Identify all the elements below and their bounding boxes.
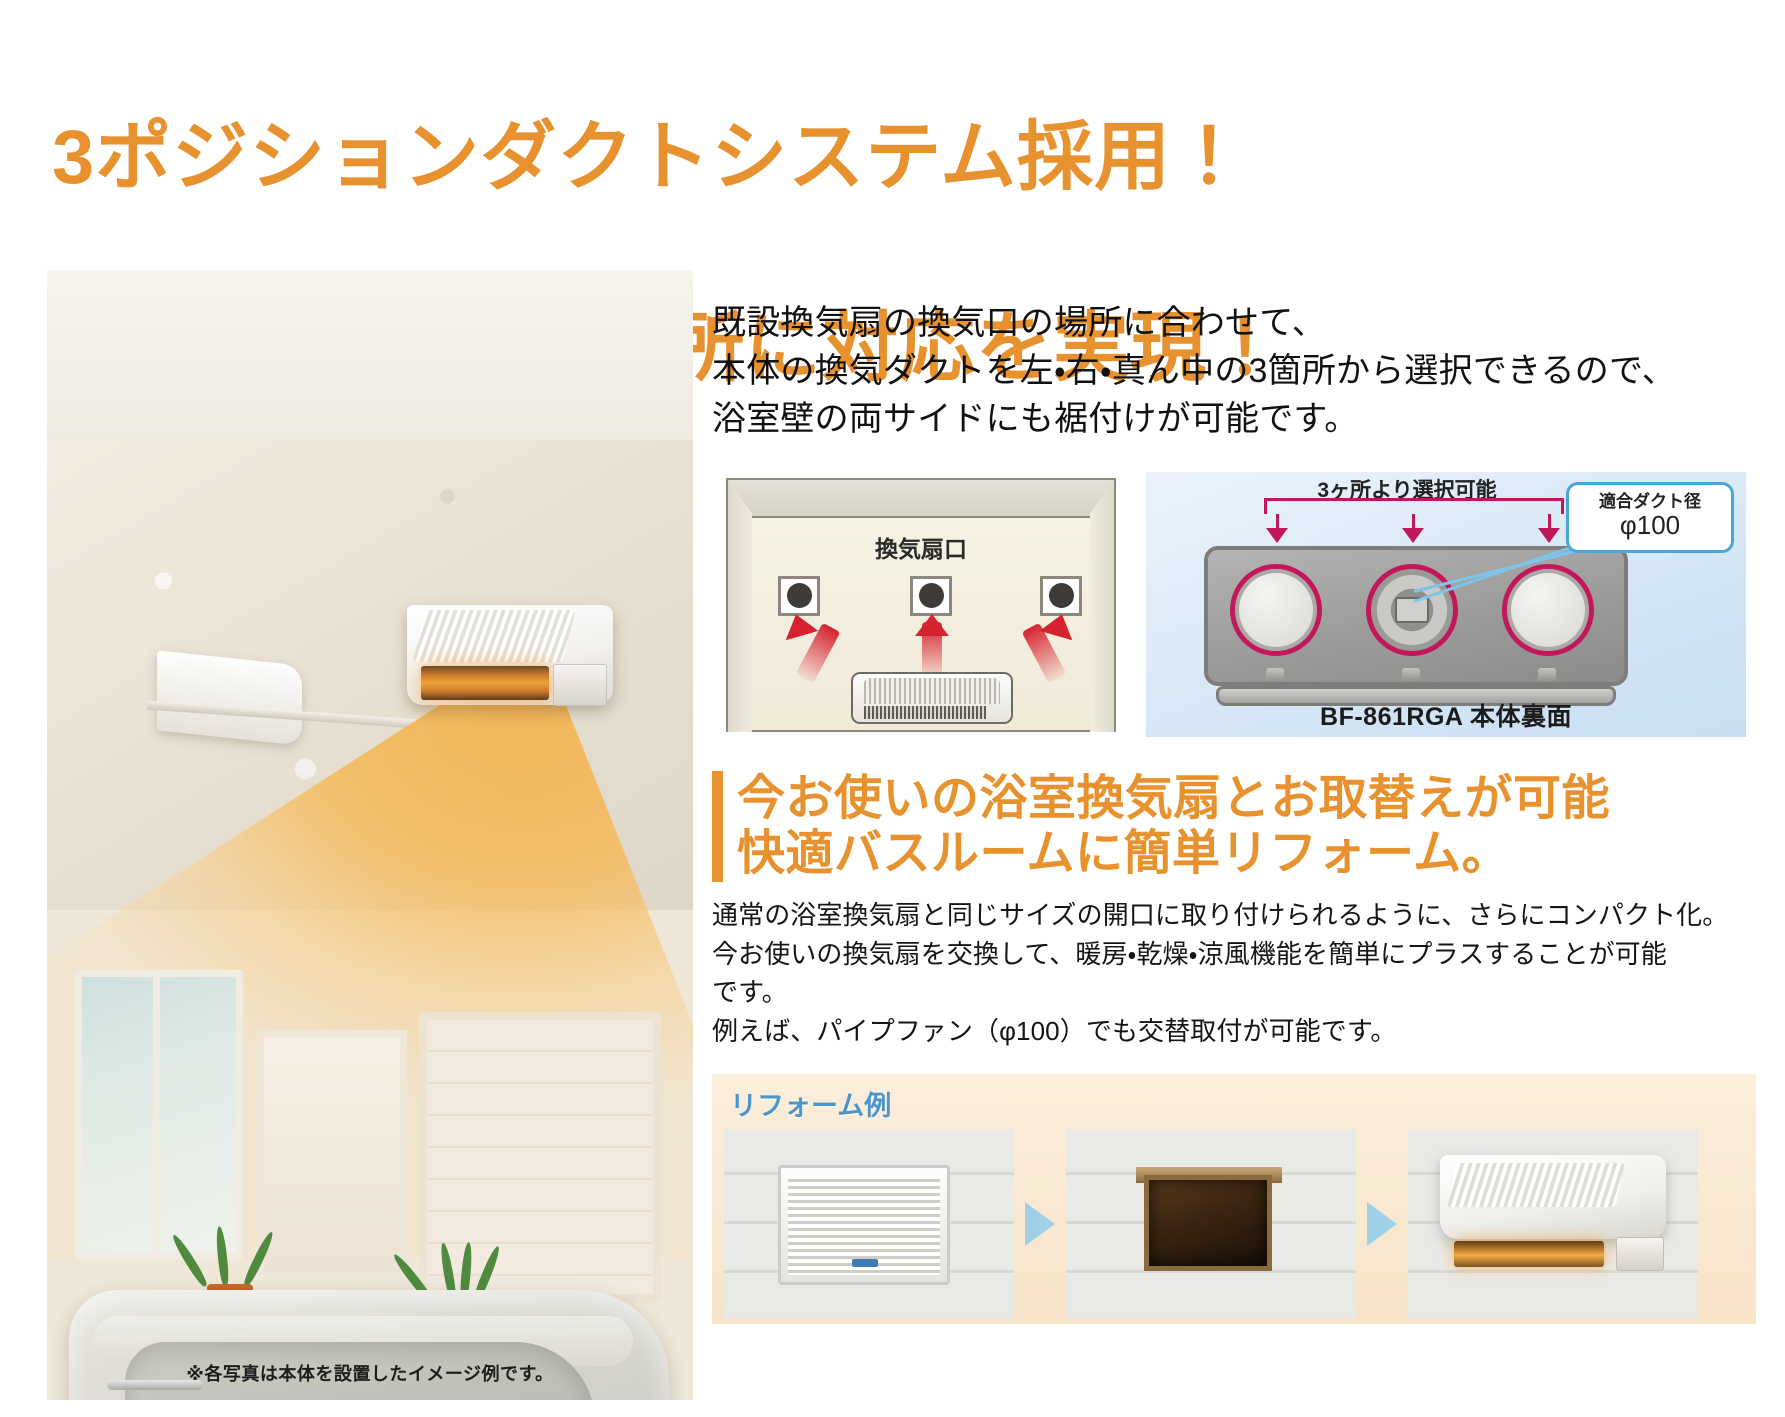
callout-title: 適合ダクト径	[1573, 492, 1727, 512]
window-mullion	[153, 970, 160, 1260]
heater-unit-grille	[413, 610, 576, 662]
reform-step-row	[724, 1129, 1744, 1319]
reform-arrow-2	[1356, 1202, 1408, 1246]
bracket-arrow-center-icon	[1402, 528, 1424, 543]
vent-opening-center	[910, 576, 952, 616]
room-left-wall	[726, 478, 752, 732]
bathroom-hero-photo: ※各写真は本体を設置したイメージ例です。	[47, 270, 693, 1400]
unit-screw-center	[1402, 668, 1420, 682]
callout-value: φ100	[1573, 511, 1727, 541]
bracket-arrow-left-icon	[1266, 528, 1288, 543]
wall-panel-left	[257, 1030, 407, 1280]
right-content-column: 既設換気扇の換気口の場所に合わせて、 本体の換気ダクトを左・右・真ん中の3箇所か…	[712, 300, 1752, 1324]
wall-opening-hole	[1144, 1175, 1272, 1271]
diagram-row: 換気扇口 3ヶ所より選択可能	[712, 472, 1752, 737]
duct-diameter-callout: 適合ダクト径 φ100	[1566, 482, 1734, 553]
new-unit-side-panel	[1616, 1237, 1664, 1271]
diagram-unit-vent-slots	[864, 706, 986, 719]
new-unit-grille	[1447, 1163, 1624, 1207]
heater-unit-side-panel	[553, 664, 607, 706]
room-right-wall	[1090, 478, 1116, 732]
duct-port-right	[1502, 564, 1594, 656]
reform-photo-wall-opening	[1066, 1129, 1356, 1319]
unit-rear-diagram: 3ヶ所より選択可能 適合ダクト径 φ100 BF-861RGA 本体裏面	[1146, 472, 1746, 737]
room-ceiling	[726, 478, 1116, 518]
room-vent-diagram: 換気扇口	[712, 472, 1130, 737]
section-heading-text: 今お使いの浴室換気扇とお取替えが可能 快適バスルームに簡単リフォーム。	[737, 771, 1610, 882]
diagram-unit-grille	[864, 678, 1000, 704]
chevron-right-icon	[1025, 1202, 1055, 1246]
reform-arrow-1	[1014, 1202, 1066, 1246]
headline-line-1: 3ポジションダクトシステム採用！	[52, 110, 1752, 206]
reform-photo-new-unit	[1408, 1129, 1698, 1319]
chevron-right-icon	[1367, 1202, 1397, 1246]
reform-photo-existing-fan	[724, 1129, 1014, 1319]
heater-unit-element	[421, 666, 549, 700]
unit-screw-left	[1266, 668, 1284, 682]
vent-opening-left	[778, 576, 820, 616]
hero-photo-caption: ※各写真は本体を設置したイメージ例です。	[47, 1360, 693, 1386]
bracket-arrow-right-icon	[1538, 528, 1560, 543]
duct-port-center	[1366, 564, 1458, 656]
reform-example-panel: リフォーム例	[712, 1074, 1756, 1324]
section-heading: 今お使いの浴室換気扇とお取替えが可能 快適バスルームに簡単リフォーム。	[712, 771, 1752, 882]
vent-opening-label: 換気扇口	[712, 530, 1130, 564]
airflow-arrow-center-head	[915, 614, 949, 636]
wall-vent-shape	[157, 650, 302, 745]
model-number-label: BF-861RGA 本体裏面	[1146, 697, 1746, 733]
unit-screw-right	[1538, 668, 1556, 682]
intro-paragraph: 既設換気扇の換気口の場所に合わせて、 本体の換気ダクトを左・右・真ん中の3箇所か…	[712, 300, 1752, 444]
reform-example-title: リフォーム例	[730, 1084, 1744, 1123]
new-unit-heater-element	[1454, 1241, 1604, 1267]
existing-fan-badge	[852, 1259, 878, 1267]
section-body-paragraph: 通常の浴室換気扇と同じサイズの開口に取り付けられるように、さらにコンパクト化。 …	[712, 896, 1752, 1050]
selection-bracket	[1264, 498, 1564, 514]
section-accent-bar	[712, 771, 723, 882]
duct-port-left	[1230, 564, 1322, 656]
